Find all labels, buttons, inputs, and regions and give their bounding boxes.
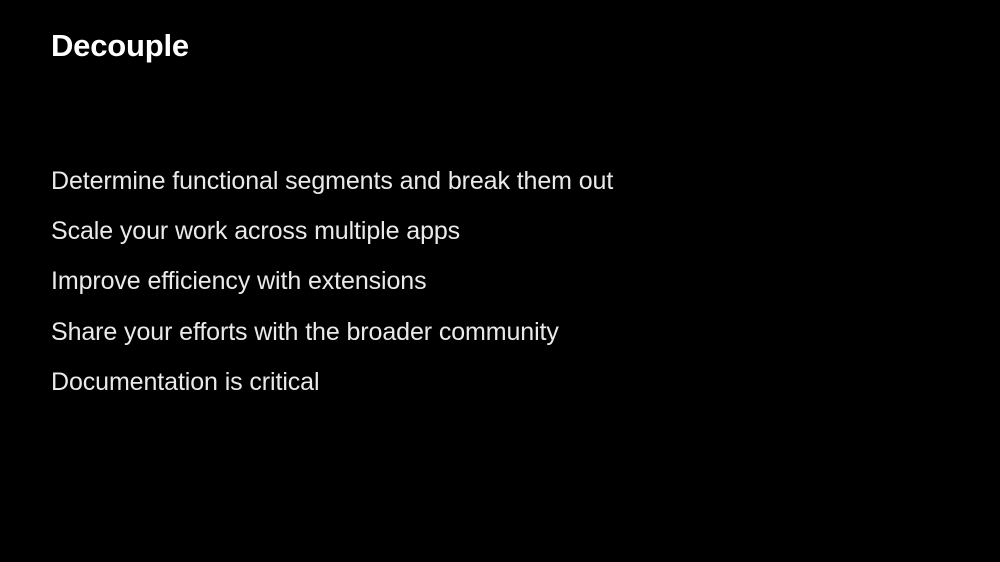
list-item: Determine functional segments and break … [51, 156, 931, 206]
list-item: Scale your work across multiple apps [51, 206, 931, 256]
list-item: Documentation is critical [51, 357, 931, 407]
list-item: Share your efforts with the broader comm… [51, 307, 931, 357]
page-title: Decouple [51, 26, 189, 66]
bullet-list: Determine functional segments and break … [51, 156, 931, 407]
presentation-slide: Decouple Determine functional segments a… [0, 0, 1000, 562]
list-item: Improve efficiency with extensions [51, 256, 931, 306]
